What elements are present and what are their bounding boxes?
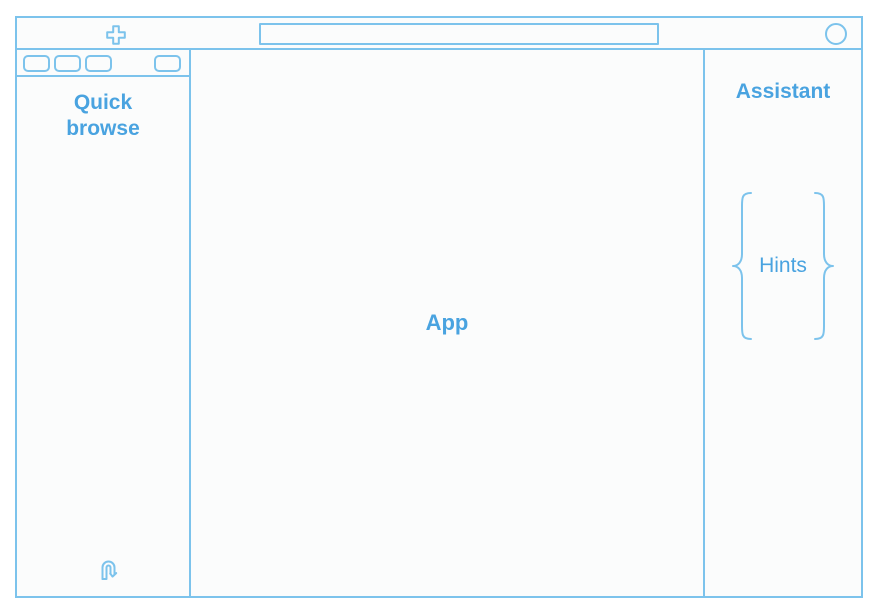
sidebar-toolbar-button-3[interactable] (85, 55, 112, 72)
app-canvas[interactable]: App (191, 50, 703, 596)
top-bar (17, 18, 861, 50)
assistant-title: Assistant (705, 80, 861, 104)
sidebar-toolbar (17, 50, 189, 77)
hints-label: Hints (755, 254, 811, 278)
app-label: App (426, 310, 469, 336)
sidebar-toolbar-button-1[interactable] (23, 55, 50, 72)
sidebar-title: Quick browse (17, 90, 189, 142)
wireframe-window: Quick browse App Assistant Hints (15, 16, 863, 598)
close-brace-icon (811, 190, 837, 342)
assistant-panel: Assistant Hints (703, 50, 861, 596)
open-brace-icon (729, 190, 755, 342)
sidebar-toolbar-button-4[interactable] (154, 55, 181, 72)
sidebar-toolbar-button-2[interactable] (54, 55, 81, 72)
u-turn-arrow-icon[interactable] (95, 556, 123, 584)
sidebar-panel: Quick browse (17, 50, 191, 596)
hints-block: Hints (713, 190, 853, 342)
plus-icon[interactable] (105, 24, 127, 46)
search-input[interactable] (259, 23, 659, 45)
circle-avatar-icon[interactable] (825, 23, 847, 45)
